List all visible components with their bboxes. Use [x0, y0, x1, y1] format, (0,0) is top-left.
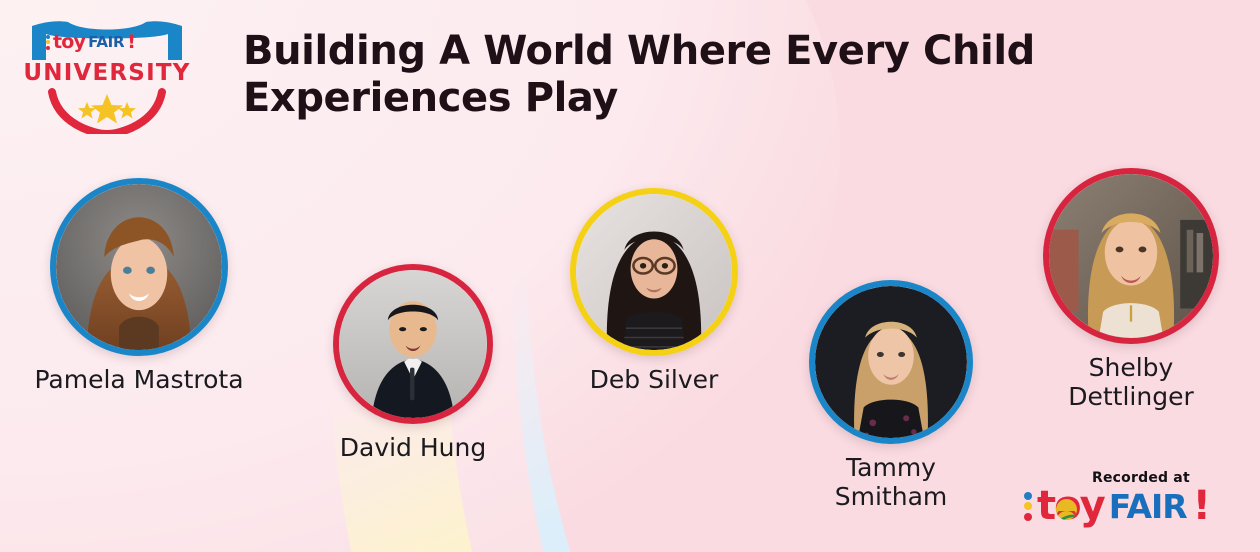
star-center-icon	[91, 94, 123, 124]
toy-fair-wordmark: toy FAIR !	[46, 29, 168, 55]
speaker-name: David Hung	[296, 434, 530, 463]
beach-ball-icon	[1056, 499, 1077, 520]
logo-fair-text: FAIR	[88, 35, 124, 50]
avatar	[570, 188, 738, 356]
speaker-card-tammy-smitham: Tammy Smitham	[792, 280, 990, 511]
logo-dots-icon	[1024, 492, 1032, 521]
avatar-photo-pamela-mastrota	[56, 184, 222, 350]
page-title: Building A World Where Every Child Exper…	[243, 28, 1083, 122]
shield-swoosh-icon	[48, 88, 166, 134]
toy-fair-university-logo: toy FAIR ! UNIVERSITY	[22, 12, 192, 134]
logo-toy-text: toy	[53, 33, 85, 52]
avatar	[1043, 168, 1219, 344]
recorded-at-toy-fair-badge: Recorded at toy FAIR !	[1024, 470, 1236, 532]
avatar	[333, 264, 493, 424]
page-title-line-2: Experiences Play	[243, 75, 1083, 122]
speaker-card-david-hung: David Hung	[296, 264, 530, 463]
recorded-at-label: Recorded at	[1092, 470, 1190, 486]
logo-fair-text: FAIR	[1109, 490, 1187, 523]
logo-exclamation-text: !	[127, 33, 136, 52]
logo-dots-icon	[46, 35, 50, 50]
page-title-line-1: Building A World Where Every Child	[243, 28, 1083, 75]
star-right-icon	[118, 102, 136, 119]
avatar-photo-david-hung	[339, 270, 487, 418]
speaker-name: Tammy Smitham	[792, 454, 990, 511]
star-left-icon	[78, 102, 96, 119]
avatar	[50, 178, 228, 356]
avatar	[809, 280, 973, 444]
speaker-name: Pamela Mastrota	[14, 366, 264, 395]
avatar-photo-tammy-smitham	[815, 286, 967, 438]
toy-fair-wordmark: toy FAIR !	[1024, 486, 1211, 526]
speaker-name: Shelby Dettlinger	[1018, 354, 1244, 411]
promo-banner: toy FAIR ! UNIVERSITY Building A World W…	[0, 0, 1260, 552]
speaker-card-pamela-mastrota: Pamela Mastrota	[14, 178, 264, 395]
speaker-name: Deb Silver	[548, 366, 760, 395]
logo-toy-text: toy	[1037, 486, 1104, 526]
avatar-photo-shelby-dettlinger	[1049, 174, 1213, 338]
logo-exclamation-text: !	[1193, 486, 1211, 526]
speaker-card-deb-silver: Deb Silver	[548, 188, 760, 395]
avatar-photo-deb-silver	[576, 194, 732, 350]
logo-university-text: UNIVERSITY	[22, 62, 192, 85]
speaker-card-shelby-dettlinger: Shelby Dettlinger	[1018, 168, 1244, 411]
